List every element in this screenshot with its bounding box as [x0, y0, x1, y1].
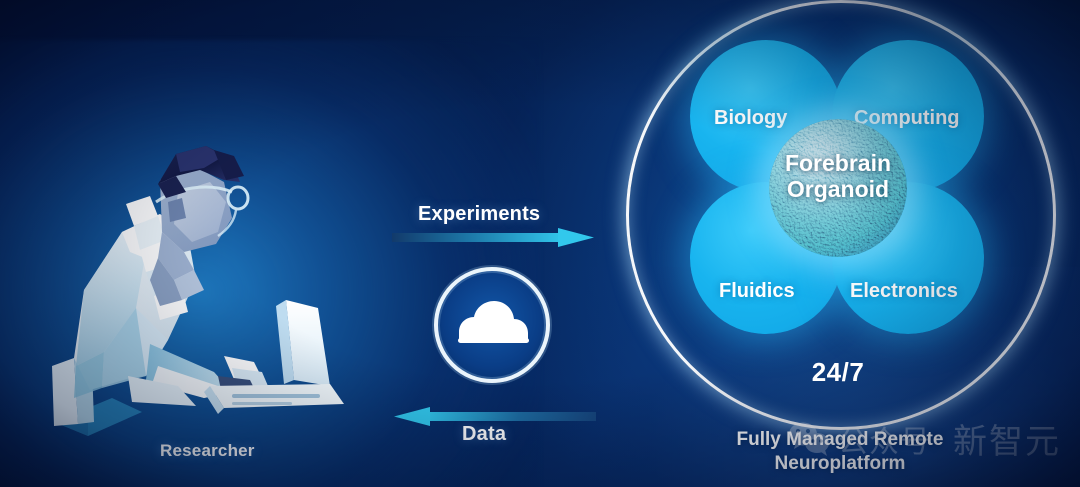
organoid-label: Forebrain Organoid — [618, 150, 1058, 202]
organoid-label-line2: Organoid — [618, 176, 1058, 202]
background-vignette — [0, 0, 1080, 487]
organoid-label-line1: Forebrain — [618, 150, 1058, 176]
figure-canvas: Researcher Experiments — [0, 0, 1080, 487]
availability-label: 24/7 — [618, 357, 1058, 388]
